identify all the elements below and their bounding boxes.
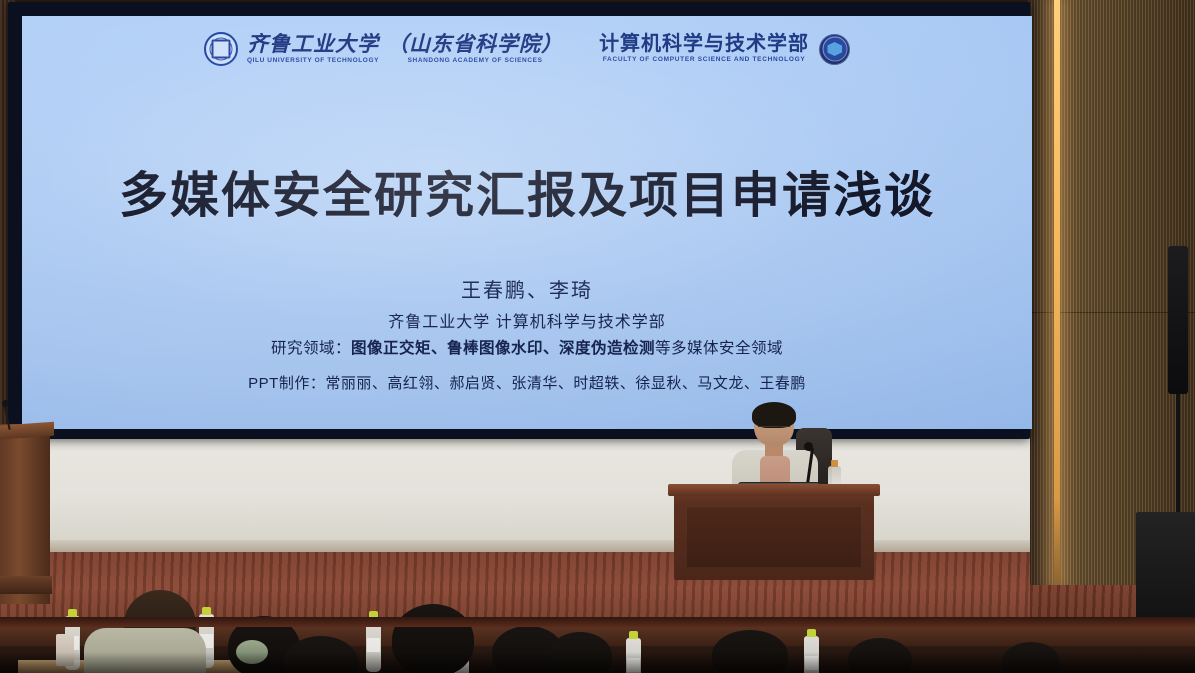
- academy-name-cn: （山东省科学院）: [387, 34, 563, 55]
- research-fields-label: 研究领域：: [271, 340, 351, 357]
- university-name-group: 齐鲁工业大学 QILU UNIVERSITY OF TECHNOLOGY （山东…: [247, 34, 563, 65]
- slide-authors: 王春鹏、李琦: [22, 274, 1032, 303]
- stage-edge-lip: [0, 617, 1195, 627]
- audience-jacket: [84, 628, 206, 673]
- vertical-light-strip: [1054, 0, 1060, 585]
- faculty-hexagon-badge-icon: [819, 34, 850, 65]
- university-name-cn: 齐鲁工业大学: [247, 34, 379, 55]
- audience-head: [712, 630, 788, 673]
- faculty-logo-block: 计算机科学与技术学部 FACULTY OF COMPUTER SCIENCE A…: [599, 34, 850, 65]
- slide-affiliation: 齐鲁工业大学 计算机科学与技术学部: [22, 308, 1032, 332]
- audience-head: [548, 632, 612, 673]
- podium-microphone-head-icon: [2, 400, 9, 407]
- faculty-name-cn: 计算机科学与技术学部: [599, 34, 809, 54]
- university-name-en: QILU UNIVERSITY OF TECHNOLOGY: [247, 58, 379, 65]
- slide-header: 齐鲁工业大学 QILU UNIVERSITY OF TECHNOLOGY （山东…: [22, 32, 1032, 66]
- desk-microphone-head-icon: [804, 442, 813, 451]
- presenter-desk-front-panel: [686, 506, 862, 568]
- presenter-hair: [752, 402, 796, 428]
- audience-water-bottle: [804, 636, 819, 673]
- audience-head: [392, 604, 474, 673]
- projection-screen-frame: 齐鲁工业大学 QILU UNIVERSITY OF TECHNOLOGY （山东…: [8, 2, 1030, 439]
- academy-name-en: SHANDONG ACADEMY OF SCIENCES: [408, 58, 543, 65]
- projection-screen: 齐鲁工业大学 QILU UNIVERSITY OF TECHNOLOGY （山东…: [22, 16, 1032, 429]
- presenter-desk-top: [668, 484, 880, 496]
- lecture-hall-photo: 齐鲁工业大学 QILU UNIVERSITY OF TECHNOLOGY （山东…: [0, 0, 1195, 673]
- presenter-glasses-icon: [758, 426, 790, 433]
- podium-base: [0, 576, 52, 594]
- slide-title: 多媒体安全研究汇报及项目申请浅谈: [22, 156, 1032, 227]
- line-array-speaker: [1168, 246, 1188, 394]
- faculty-name-stack: 计算机科学与技术学部 FACULTY OF COMPUTER SCIENCE A…: [599, 34, 809, 64]
- faculty-name-en: FACULTY OF COMPUTER SCIENCE AND TECHNOLO…: [603, 57, 806, 64]
- university-logo-block: 齐鲁工业大学 QILU UNIVERSITY OF TECHNOLOGY （山东…: [204, 32, 563, 66]
- subwoofer-speaker: EAC: [1136, 512, 1195, 624]
- research-fields-highlight: 图像正交矩、鲁棒图像水印、深度伪造检测: [351, 340, 655, 357]
- audience-paper-cup: [56, 634, 74, 666]
- university-name-cn-stack: 齐鲁工业大学 QILU UNIVERSITY OF TECHNOLOGY: [247, 34, 379, 65]
- audience-water-bottle: [626, 638, 641, 673]
- slide-research-fields: 研究领域：图像正交矩、鲁棒图像水印、深度伪造检测等多媒体安全领域: [22, 336, 1032, 358]
- academy-name-stack: （山东省科学院） SHANDONG ACADEMY OF SCIENCES: [387, 34, 563, 65]
- qilu-university-seal-icon: [204, 32, 238, 66]
- audience-hair-scrunchie: [236, 640, 268, 664]
- slide-credits: PPT制作：常丽丽、高红翎、郝启贤、张清华、时超轶、徐显秋、马文龙、王春鹏: [22, 372, 1032, 393]
- research-fields-tail: 等多媒体安全领域: [655, 340, 783, 357]
- speaker-stand-pole: [1176, 394, 1180, 526]
